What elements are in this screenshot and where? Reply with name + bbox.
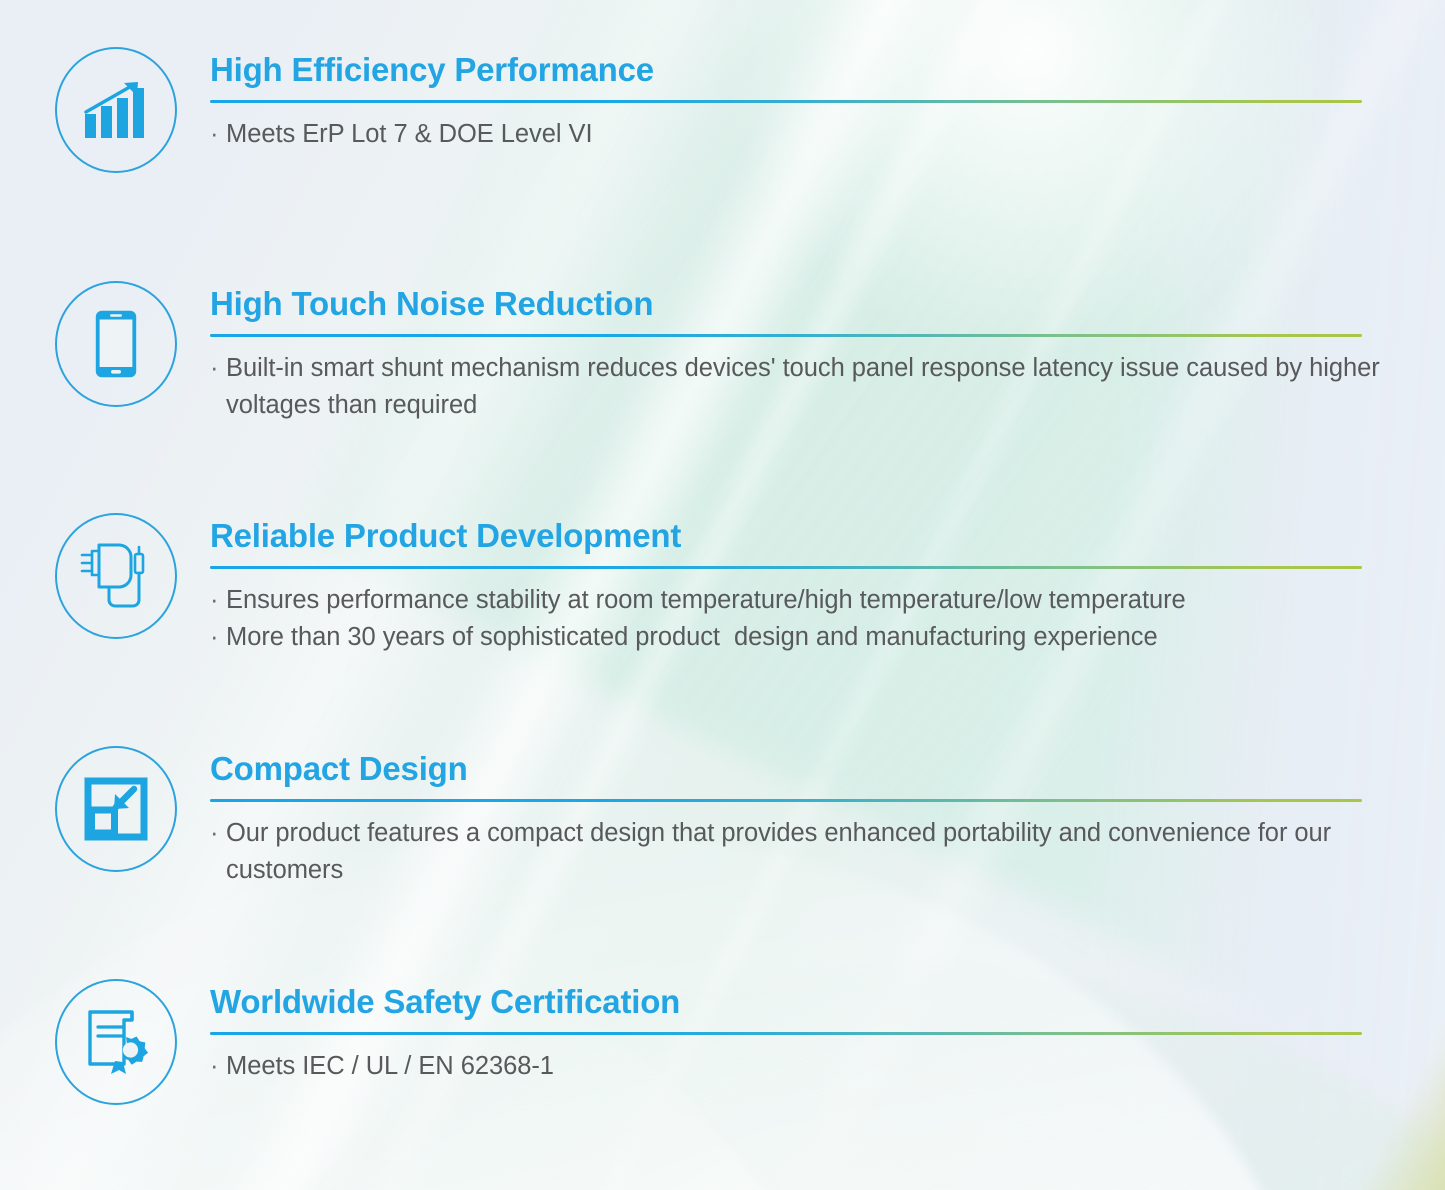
feature-item-worldwide-safety-certification: Worldwide Safety Certification · Meets I… xyxy=(52,978,1392,1106)
feature-icon-wrap xyxy=(52,745,180,873)
certificate-seal-icon xyxy=(55,979,177,1105)
bullet-item: · Meets ErP Lot 7 & DOE Level VI xyxy=(210,116,1392,153)
feature-icon-wrap xyxy=(52,512,180,640)
bullet-text: Our product features a compact design th… xyxy=(226,815,1392,889)
bullet-marker: · xyxy=(210,815,226,889)
feature-icon-wrap xyxy=(52,978,180,1106)
feature-bullets: · Ensures performance stability at room … xyxy=(210,582,1392,656)
bullet-text: Built-in smart shunt mechanism reduces d… xyxy=(226,350,1392,424)
feature-list: High Efficiency Performance · Meets ErP … xyxy=(0,0,1445,1190)
bullet-item: · Ensures performance stability at room … xyxy=(210,582,1392,619)
smartphone-icon xyxy=(55,281,177,407)
feature-bullets: · Our product features a compact design … xyxy=(210,815,1392,889)
bullet-item: · Built-in smart shunt mechanism reduces… xyxy=(210,350,1392,424)
bullet-marker: · xyxy=(210,1048,226,1085)
feature-item-high-touch-noise-reduction: High Touch Noise Reduction · Built-in sm… xyxy=(52,280,1392,424)
bullet-text: Meets ErP Lot 7 & DOE Level VI xyxy=(226,116,1392,153)
feature-body: Worldwide Safety Certification · Meets I… xyxy=(180,978,1392,1085)
bullet-text: More than 30 years of sophisticated prod… xyxy=(226,619,1392,656)
feature-bullets: · Meets IEC / UL / EN 62368-1 xyxy=(210,1048,1392,1085)
bullet-marker: · xyxy=(210,582,226,619)
feature-title: Compact Design xyxy=(210,751,1392,788)
power-adapter-icon xyxy=(55,513,177,639)
feature-bullets: · Meets ErP Lot 7 & DOE Level VI xyxy=(210,116,1392,153)
feature-title: Worldwide Safety Certification xyxy=(210,984,1392,1021)
feature-icon-wrap xyxy=(52,280,180,408)
bullet-text: Ensures performance stability at room te… xyxy=(226,582,1392,619)
feature-icon-wrap xyxy=(52,46,180,174)
feature-divider xyxy=(210,566,1362,569)
feature-divider xyxy=(210,334,1362,337)
bullet-item: · Meets IEC / UL / EN 62368-1 xyxy=(210,1048,1392,1085)
feature-title: High Touch Noise Reduction xyxy=(210,286,1392,323)
bullet-item: · Our product features a compact design … xyxy=(210,815,1392,889)
feature-item-high-efficiency-performance: High Efficiency Performance · Meets ErP … xyxy=(52,46,1392,174)
feature-item-reliable-product-development: Reliable Product Development · Ensures p… xyxy=(52,512,1392,656)
feature-title: Reliable Product Development xyxy=(210,518,1392,555)
feature-bullets: · Built-in smart shunt mechanism reduces… xyxy=(210,350,1392,424)
feature-title: High Efficiency Performance xyxy=(210,52,1392,89)
bar-chart-growth-icon xyxy=(55,47,177,173)
bullet-marker: · xyxy=(210,619,226,656)
bullet-text: Meets IEC / UL / EN 62368-1 xyxy=(226,1048,1392,1085)
feature-item-compact-design: Compact Design · Our product features a … xyxy=(52,745,1392,889)
bullet-marker: · xyxy=(210,350,226,424)
bullet-item: · More than 30 years of sophisticated pr… xyxy=(210,619,1392,656)
compact-resize-icon xyxy=(55,746,177,872)
feature-divider xyxy=(210,100,1362,103)
feature-body: Reliable Product Development · Ensures p… xyxy=(180,512,1392,656)
feature-divider xyxy=(210,1032,1362,1035)
feature-body: High Touch Noise Reduction · Built-in sm… xyxy=(180,280,1392,424)
feature-body: Compact Design · Our product features a … xyxy=(180,745,1392,889)
bullet-marker: · xyxy=(210,116,226,153)
feature-body: High Efficiency Performance · Meets ErP … xyxy=(180,46,1392,153)
feature-divider xyxy=(210,799,1362,802)
